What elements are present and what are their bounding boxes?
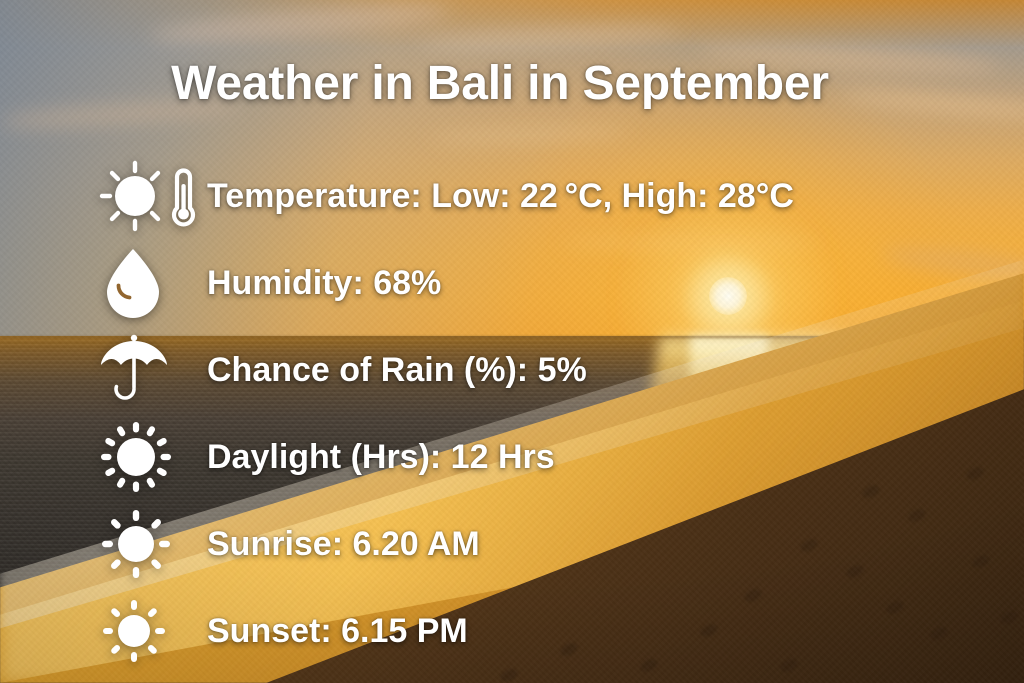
- sunset-sun-icon: [95, 592, 207, 670]
- row-humidity: Humidity: 68%: [95, 239, 995, 326]
- umbrella-icon: [95, 331, 207, 409]
- sunrise-sun-icon: [95, 505, 207, 583]
- row-label-temperature: Temperature: Low: 22 °C, High: 28°C: [207, 179, 794, 213]
- row-chance-of-rain: Chance of Rain (%): 5%: [95, 326, 995, 413]
- row-sunrise: Sunrise: 6.20 AM: [95, 500, 995, 587]
- row-sunset: Sunset: 6.15 PM: [95, 587, 995, 674]
- sun-rays-12-icon: [95, 418, 207, 496]
- row-temperature: Temperature: Low: 22 °C, High: 28°C: [95, 152, 995, 239]
- row-label-chance-of-rain: Chance of Rain (%): 5%: [207, 353, 587, 387]
- row-daylight: Daylight (Hrs): 12 Hrs: [95, 413, 995, 500]
- row-label-sunrise: Sunrise: 6.20 AM: [207, 527, 480, 561]
- overlay-content: Weather in Bali in September: [0, 0, 1024, 683]
- row-label-daylight: Daylight (Hrs): 12 Hrs: [207, 440, 555, 474]
- weather-infographic: Weather in Bali in September: [0, 0, 1024, 683]
- page-title: Weather in Bali in September: [0, 56, 1000, 111]
- weather-rows: Temperature: Low: 22 °C, High: 28°C Humi…: [95, 152, 995, 674]
- water-droplet-icon: [95, 244, 207, 322]
- sun-thermometer-icon: [95, 157, 207, 235]
- row-label-humidity: Humidity: 68%: [207, 266, 441, 300]
- row-label-sunset: Sunset: 6.15 PM: [207, 614, 468, 648]
